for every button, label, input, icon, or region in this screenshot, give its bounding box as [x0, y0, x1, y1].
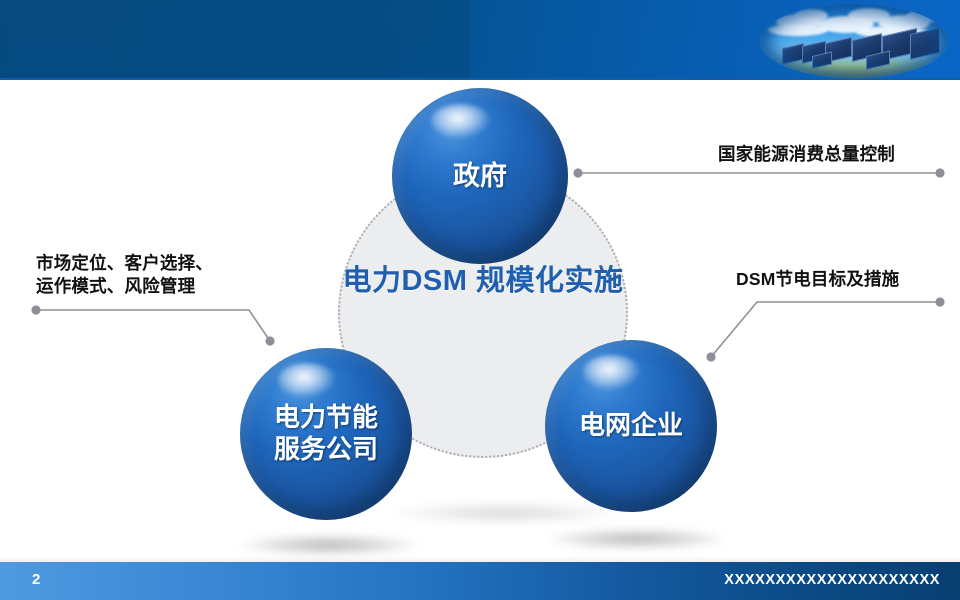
connector-dot-end-top-right [935, 168, 944, 177]
callout-label-middle-right: DSM节电目标及措施 [736, 268, 952, 291]
solar-panel-photo [760, 4, 948, 78]
node-sphere-grid-enterprise[interactable]: 电网企业 [545, 340, 717, 512]
node-label-government: 政府 [453, 160, 507, 193]
slide-canvas: 电力DSM 规模化实施 政府 电力节能 服务公司 电网企业 国家能源消费总量控制… [0, 0, 960, 600]
photo-vignette [760, 4, 948, 78]
node-label-grid-enterprise: 电网企业 [579, 410, 683, 442]
header-dark-strip [0, 0, 470, 80]
connector-dot-sphere-government [573, 168, 582, 177]
connector-line-left [36, 310, 270, 341]
connector-line-middle-right [711, 302, 940, 357]
callout-label-left: 市场定位、客户选择、 运作模式、风险管理 [36, 252, 266, 298]
sphere-highlight [583, 355, 641, 389]
sphere-highlight [278, 363, 336, 397]
sphere-shadow [390, 502, 620, 524]
connector-dot-sphere-grid [706, 352, 715, 361]
center-circle-label: 电力DSM 规模化实施 [338, 262, 628, 301]
callout-label-top-right: 国家能源消费总量控制 [718, 143, 954, 166]
connector-dot-end-middle-right [935, 297, 944, 306]
slide-header-band [0, 0, 960, 80]
node-sphere-government[interactable]: 政府 [392, 88, 568, 264]
node-sphere-esco[interactable]: 电力节能 服务公司 [240, 348, 412, 520]
page-number: 2 [32, 571, 40, 588]
sphere-highlight [431, 104, 491, 139]
node-label-esco: 电力节能 服务公司 [274, 402, 378, 465]
sphere-shadow [238, 534, 420, 556]
connector-dot-sphere-esco [265, 336, 274, 345]
connector-dot-end-left [31, 305, 40, 314]
footer-note-text: XXXXXXXXXXXXXXXXXXXXX [724, 572, 940, 588]
header-bottom-edge [0, 78, 960, 80]
slide-footer-band: 2 XXXXXXXXXXXXXXXXXXXXX [0, 562, 960, 600]
sphere-shadow [546, 528, 728, 550]
